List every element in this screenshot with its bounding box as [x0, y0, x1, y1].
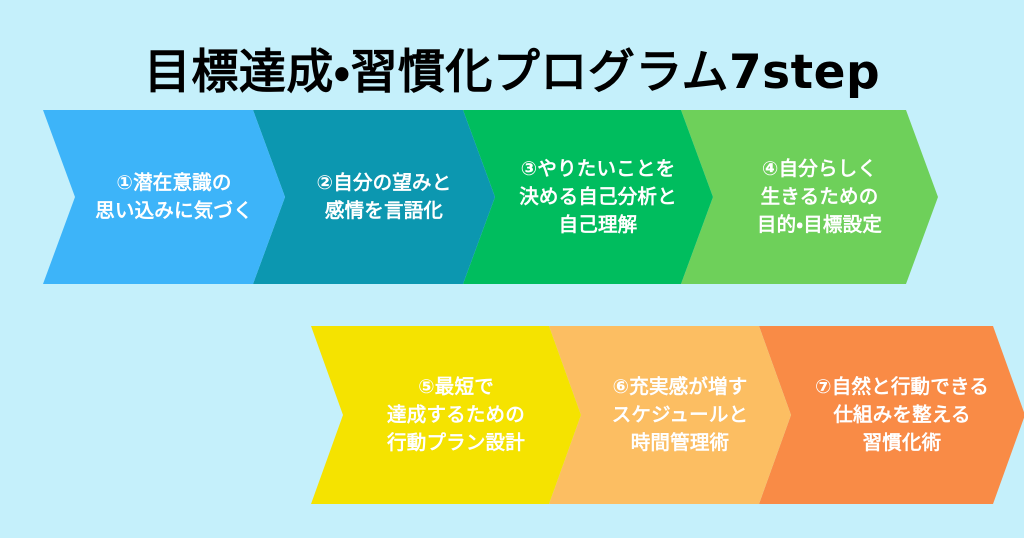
process-step-6-line-3: 時間管理術 [612, 429, 749, 457]
process-step-5[interactable]: ⑤最短で 達成するための 行動プラン設計 [311, 326, 581, 504]
process-step-4-label: ④自分らしく 生きるための 目的・目標設定 [723, 155, 896, 238]
process-step-3-label: ③やりたいことを 決める自己分析と 自己理解 [485, 155, 691, 238]
process-step-2-line-1: ②自分の望みと [317, 169, 452, 197]
process-step-4[interactable]: ④自分らしく 生きるための 目的・目標設定 [681, 110, 938, 284]
process-step-3-line-2: 決める自己分析と [519, 183, 677, 211]
process-step-6[interactable]: ⑥充実感が増す スケジュールと 時間管理術 [549, 326, 791, 504]
page-title: 目標達成・習慣化プログラム7step [0, 47, 1024, 100]
process-step-5-line-3: 行動プラン設計 [387, 429, 525, 457]
process-step-1-label: ①潜在意識の 思い込みに気づく [61, 169, 267, 224]
process-step-7-line-2: 仕組みを整える [815, 401, 989, 429]
process-step-2[interactable]: ②自分の望みと 感情を言語化 [253, 110, 495, 284]
process-step-5-line-1: ⑤最短で [387, 373, 525, 401]
process-step-7[interactable]: ⑦自然と行動できる 仕組みを整える 習慣化術 [759, 326, 1024, 504]
diagram-canvas: 目標達成・習慣化プログラム7step ①潜在意識の 思い込みに気づく ②自分の望… [0, 0, 1024, 538]
process-step-6-line-2: スケジュールと [612, 401, 749, 429]
process-step-6-label: ⑥充実感が増す スケジュールと 時間管理術 [578, 373, 763, 456]
process-step-2-line-2: 感情を言語化 [317, 197, 452, 225]
process-step-3-line-1: ③やりたいことを [519, 155, 677, 183]
process-step-4-line-3: 目的・目標設定 [757, 211, 882, 239]
process-step-7-label: ⑦自然と行動できる 仕組みを整える 習慣化術 [781, 373, 1003, 456]
process-step-5-label: ⑤最短で 達成するための 行動プラン設計 [353, 373, 539, 456]
process-step-1[interactable]: ①潜在意識の 思い込みに気づく [43, 110, 285, 284]
process-step-5-line-2: 達成するための [387, 401, 525, 429]
process-step-1-line-2: 思い込みに気づく [95, 197, 253, 225]
process-step-1-line-1: ①潜在意識の [95, 169, 253, 197]
process-step-7-line-3: 習慣化術 [815, 429, 989, 457]
process-flow-row-1: ①潜在意識の 思い込みに気づく ②自分の望みと 感情を言語化 ③やりたいことを … [43, 110, 938, 284]
process-step-2-label: ②自分の望みと 感情を言語化 [283, 169, 466, 224]
process-step-3-line-3: 自己理解 [519, 211, 677, 239]
process-step-4-line-1: ④自分らしく [757, 155, 882, 183]
process-step-3[interactable]: ③やりたいことを 決める自己分析と 自己理解 [463, 110, 713, 284]
process-step-6-line-1: ⑥充実感が増す [612, 373, 749, 401]
process-step-7-line-1: ⑦自然と行動できる [815, 373, 989, 401]
process-flow-row-2: ⑤最短で 達成するための 行動プラン設計 ⑥充実感が増す スケジュールと 時間管… [311, 326, 1024, 504]
process-step-4-line-2: 生きるための [757, 183, 882, 211]
